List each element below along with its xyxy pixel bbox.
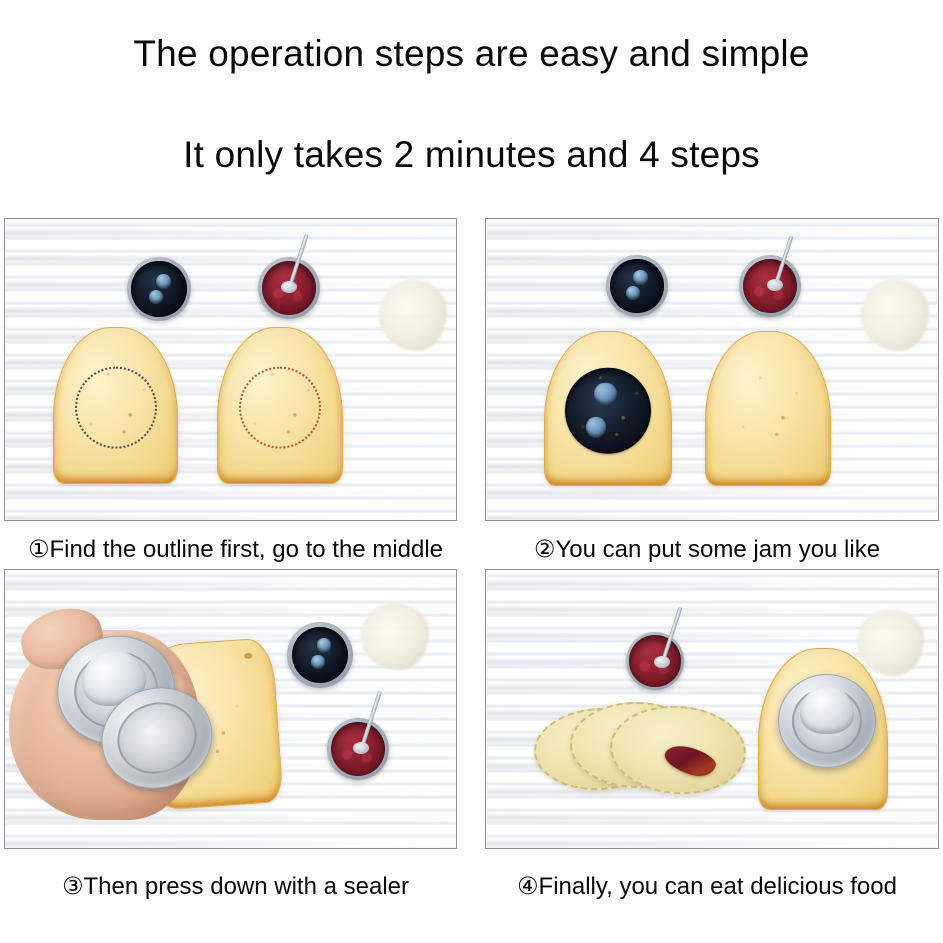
blueberry (317, 638, 332, 653)
bread-slice-left (53, 327, 178, 484)
bread-notch (645, 344, 653, 350)
jam-spoon (281, 223, 297, 289)
step-panel-4 (471, 554, 943, 906)
sealer-grip-dome (800, 686, 854, 734)
heading-line-2: It only takes 2 minutes and 4 steps (0, 132, 943, 178)
bread-notch (244, 653, 252, 660)
bread-slice-with-jam (544, 331, 672, 486)
blueberry (156, 274, 171, 289)
blueberry-bowl (127, 257, 191, 321)
step-panel-2 (471, 206, 943, 554)
step-2-photo (485, 218, 939, 521)
blueberry (311, 655, 325, 669)
step-4-photo (485, 569, 939, 849)
blueberry-bowl (606, 255, 668, 317)
spoon-bowl (353, 742, 369, 754)
caption-step-2: ②You can put some jam you like (471, 535, 943, 565)
spoon-bowl (654, 656, 670, 668)
blueberry (633, 270, 648, 285)
step-panel-1 (0, 206, 471, 554)
bread-notch (861, 662, 869, 668)
bread-notch (152, 340, 160, 346)
step-panel-3 (0, 554, 471, 906)
bread-notch (317, 340, 325, 346)
blueberry-bowl (287, 622, 353, 688)
bread-crust-blob (861, 279, 929, 351)
bowl-contents (131, 261, 186, 316)
bowl-contents (292, 627, 349, 684)
bread-crust-blob (361, 603, 429, 670)
blueberry (594, 383, 616, 405)
bread-notch (805, 344, 813, 350)
jam-spoon (767, 225, 783, 287)
bread-slice-right (217, 327, 343, 484)
heading-line-1: The operation steps are easy and simple (0, 31, 943, 77)
step-1-photo (4, 218, 457, 521)
instruction-graphic: The operation steps are easy and simple … (0, 0, 943, 943)
blueberry (149, 290, 163, 304)
caption-step-3: ③Then press down with a sealer (0, 872, 471, 902)
step-3-photo (4, 569, 457, 849)
outline-circle-dark (75, 366, 157, 448)
spoon-bowl (281, 281, 297, 293)
bread-crust-blob (379, 279, 447, 351)
blueberry (586, 417, 607, 438)
blueberry (626, 286, 640, 300)
caption-step-4: ④Finally, you can eat delicious food (471, 872, 943, 902)
blueberry-jam-filling (565, 367, 651, 453)
spoon-bowl (767, 279, 783, 291)
jam-spoon (654, 596, 670, 664)
bowl-contents (610, 259, 663, 312)
outline-circle-red (239, 366, 321, 448)
heading-block: The operation steps are easy and simple … (0, 0, 943, 178)
bread-slice-plain (705, 331, 831, 486)
caption-step-1: ①Find the outline first, go to the middl… (0, 535, 471, 565)
jam-spoon (353, 680, 369, 750)
sandwich-sealer-tool (778, 674, 876, 768)
